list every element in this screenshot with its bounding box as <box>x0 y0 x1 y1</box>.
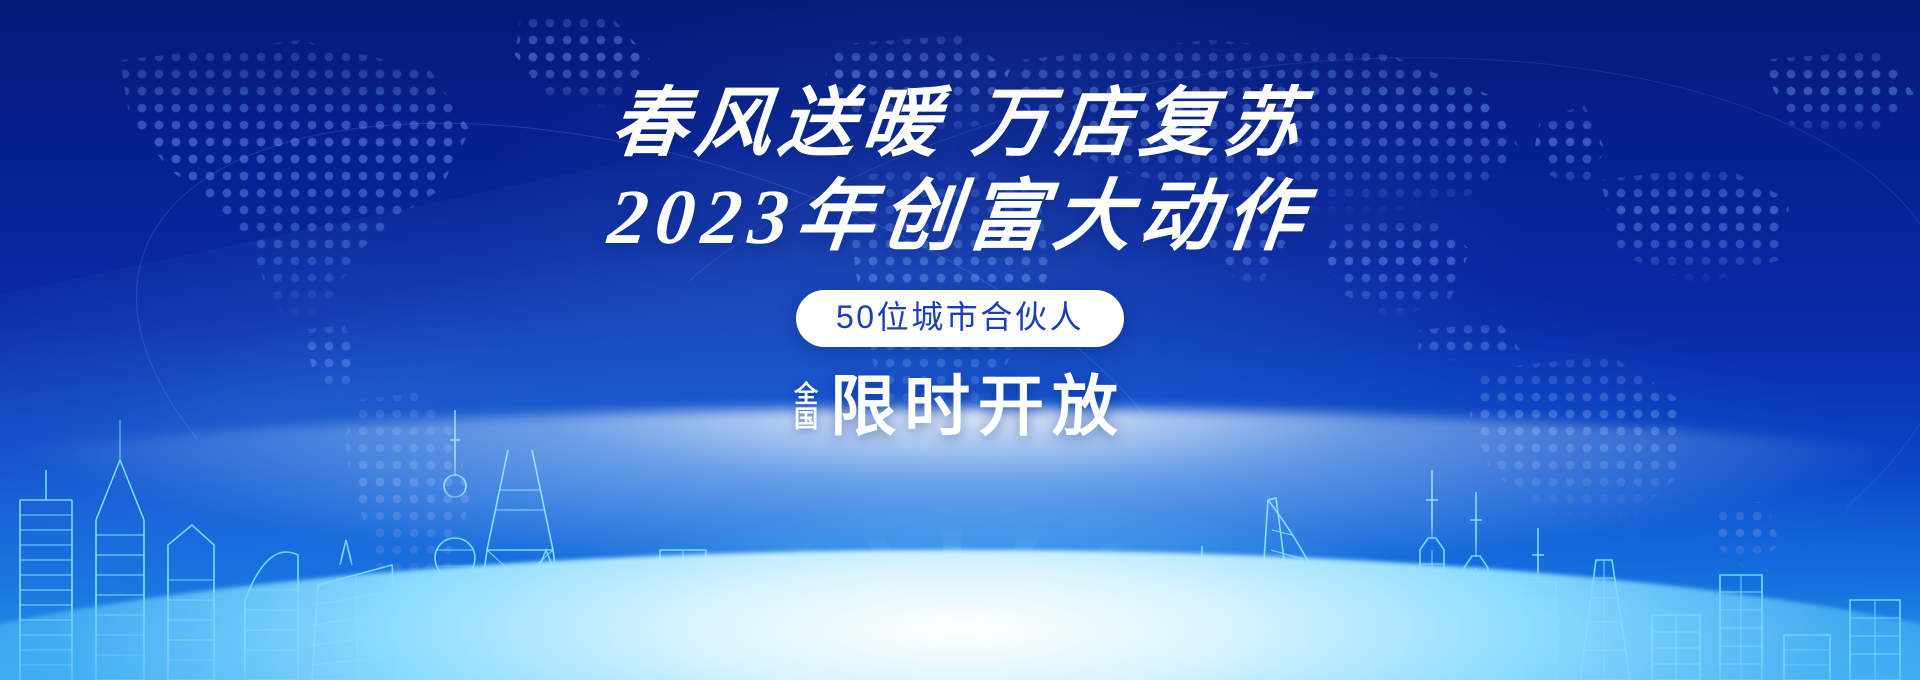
cta-line: 全 国 限时开放 <box>794 373 1126 439</box>
cta-prefix-bottom: 国 <box>794 408 818 432</box>
headline-line-2: 2023年创富大动作 <box>605 178 1315 256</box>
promo-banner: 春风送暖 万店复苏 2023年创富大动作 50位城市合伙人 全 国 限时开放 <box>0 0 1920 680</box>
headline-line-1: 春风送暖 万店复苏 <box>608 86 1311 162</box>
partner-count-badge: 50位城市合伙人 <box>796 290 1124 347</box>
banner-content: 春风送暖 万店复苏 2023年创富大动作 50位城市合伙人 全 国 限时开放 <box>0 0 1920 680</box>
cta-prefix: 全 国 <box>794 383 818 432</box>
cta-prefix-top: 全 <box>794 383 818 407</box>
cta-main-text: 限时开放 <box>830 373 1126 439</box>
